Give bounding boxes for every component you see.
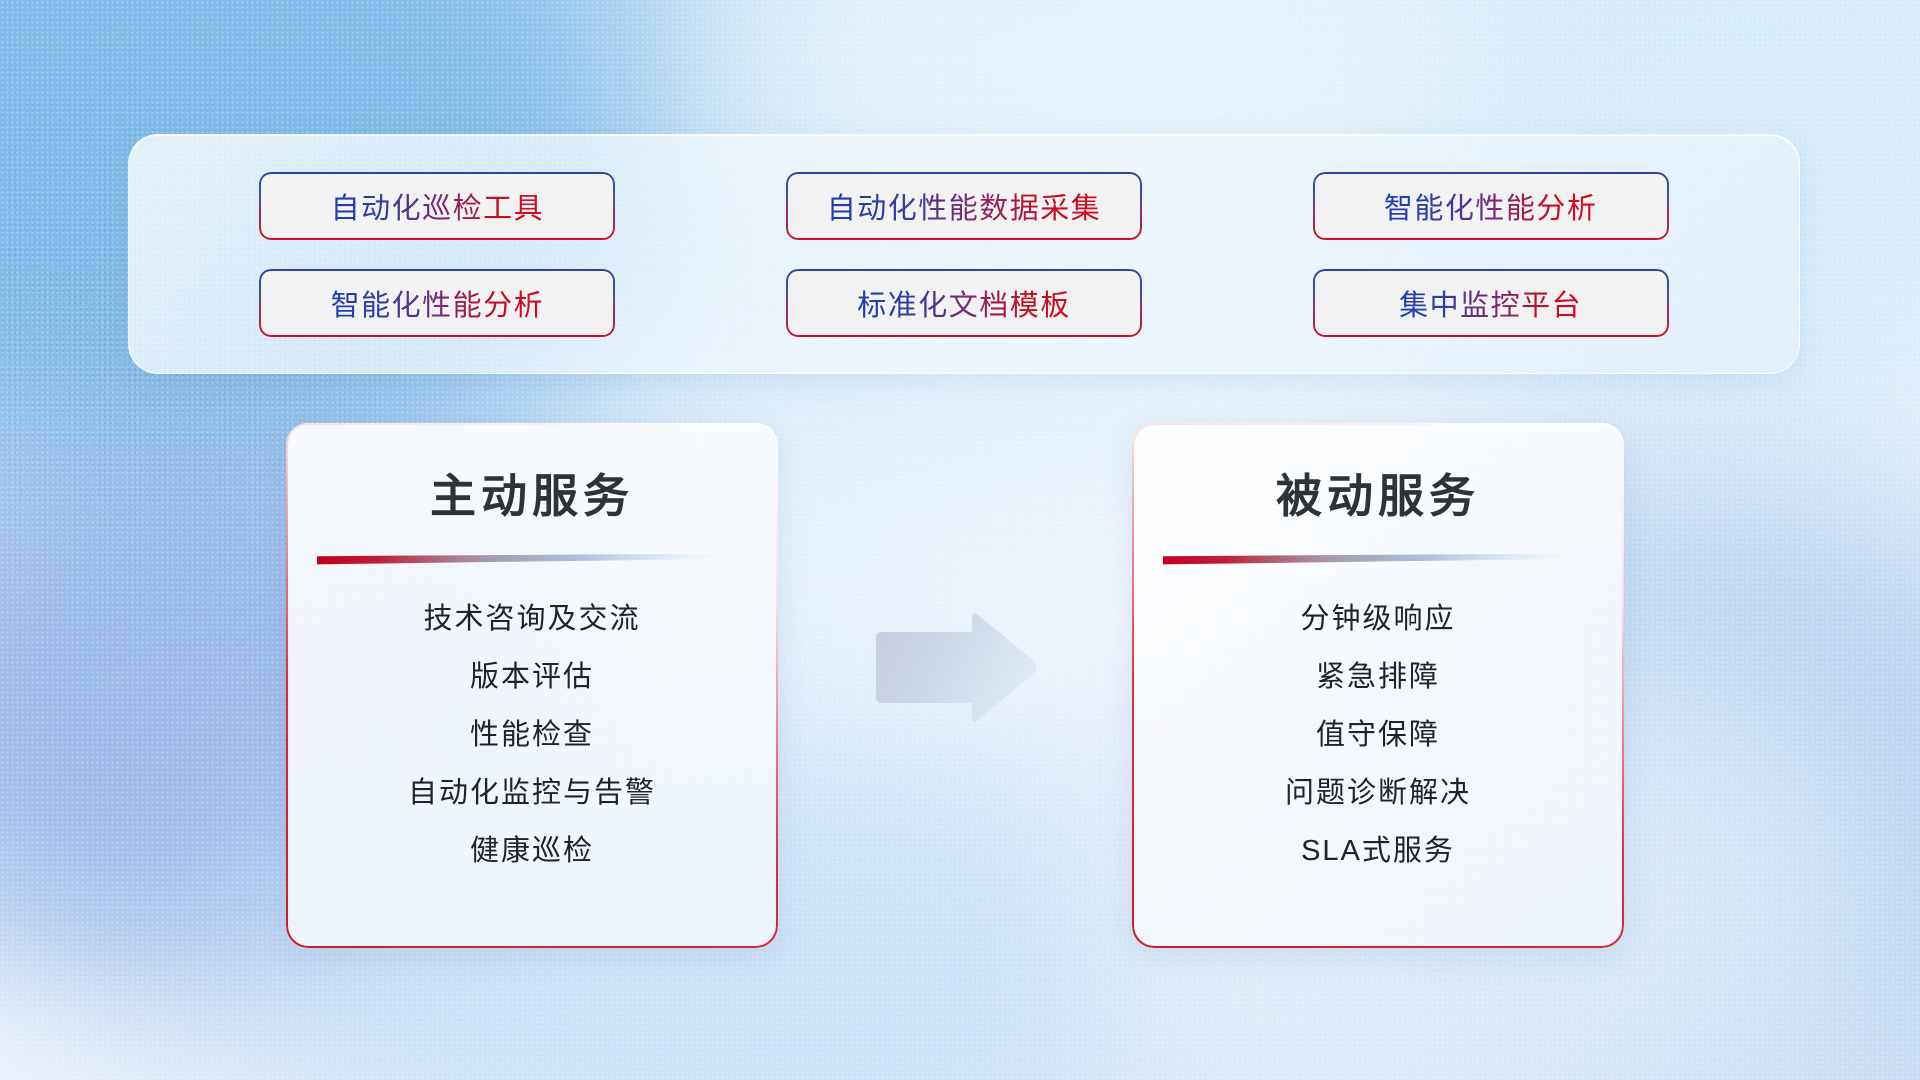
service-card-title: 被动服务 [1132,460,1624,526]
service-list-item: 分钟级响应 [1300,591,1455,649]
capability-tag-label: 智能化性能分析 [1384,185,1598,227]
service-item-list: 分钟级响应 紧急排障 值守保障 问题诊断解决 SLA式服务 [1132,591,1624,881]
service-list-item: 版本评估 [470,649,594,707]
capability-tag[interactable]: 标准化文档模板 [786,269,1142,337]
service-card-passive: 被动服务 分钟级响应 紧急排障 值守保障 [1132,423,1624,948]
service-list-item: 自动化监控与告警 [408,765,656,823]
service-list-item: 问题诊断解决 [1285,765,1471,823]
capability-tag-label: 自动化性能数据采集 [827,185,1102,227]
service-list-item: 技术咨询及交流 [423,591,640,649]
capability-tag[interactable]: 智能化性能分析 [259,269,615,337]
service-item-list: 技术咨询及交流 版本评估 性能检查 自动化监控与告警 健康巡检 [286,591,778,881]
capability-tag[interactable]: 自动化巡检工具 [259,172,615,240]
service-list-item: SLA式服务 [1301,823,1455,881]
service-card-active: 主动服务 技术咨询及交流 版本评估 性能检查 [286,423,778,948]
service-list-item: 值守保障 [1316,707,1440,765]
capability-tag-label: 集中监控平台 [1399,282,1582,324]
capability-tag[interactable]: 自动化性能数据采集 [786,172,1142,240]
capability-tag-label: 自动化巡检工具 [331,185,545,227]
service-list-item: 紧急排障 [1316,649,1440,707]
service-card-title: 主动服务 [286,460,778,526]
service-list-item: 健康巡检 [470,823,594,881]
capability-tag[interactable]: 集中监控平台 [1313,269,1669,337]
arrow-right-icon [868,608,1040,728]
capability-tag-label: 智能化性能分析 [331,282,545,324]
slide-canvas: 自动化巡检工具 自动化性能数据采集 智能化性能分析 智能化性能分析 标准化文档模… [0,0,1920,1080]
capability-tag[interactable]: 智能化性能分析 [1313,172,1669,240]
capability-tag-grid: 自动化巡检工具 自动化性能数据采集 智能化性能分析 智能化性能分析 标准化文档模… [129,135,1799,373]
capabilities-panel: 自动化巡检工具 自动化性能数据采集 智能化性能分析 智能化性能分析 标准化文档模… [128,134,1800,374]
title-divider [1163,553,1593,565]
service-list-item: 性能检查 [470,707,594,765]
capability-tag-label: 标准化文档模板 [857,282,1071,324]
title-divider [317,553,747,565]
